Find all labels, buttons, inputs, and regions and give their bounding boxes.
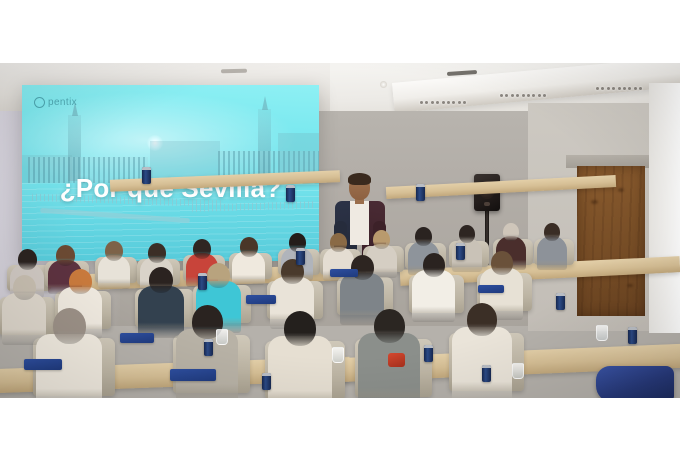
- audience-member-head: [53, 308, 86, 344]
- spotlight-icon: [505, 94, 508, 97]
- opentix-logo: pentix: [34, 97, 77, 108]
- spotlight-icon: [516, 94, 519, 97]
- screenshot-root: pentix ¿Por qué Sevilla?: [0, 0, 696, 464]
- blue-folder: [330, 269, 358, 277]
- presenter-shirt: [350, 201, 369, 245]
- navy-blazer-draped: [596, 366, 674, 398]
- drink-can: [482, 365, 491, 382]
- spotlight-icon: [639, 87, 642, 90]
- spotlight-icon: [532, 94, 535, 97]
- drink-can: [556, 293, 565, 310]
- spotlight-icon: [538, 94, 541, 97]
- spotlight-icon: [458, 101, 461, 104]
- can-top: [456, 243, 465, 246]
- can-top: [262, 373, 271, 376]
- drink-can: [424, 345, 433, 362]
- spotlight-cluster: [596, 85, 642, 92]
- spotlight-icon: [500, 94, 503, 97]
- spotlight-icon: [447, 101, 450, 104]
- audience-member-head: [207, 263, 230, 288]
- audience-member-torso: [452, 327, 512, 398]
- can-top: [296, 248, 305, 251]
- audience-member-head: [149, 267, 173, 293]
- water-glass: [512, 363, 524, 379]
- audience-member-head: [105, 241, 123, 261]
- audience-member-head: [330, 233, 347, 252]
- can-top: [628, 327, 637, 330]
- drink-can: [204, 339, 213, 356]
- audience-member-head: [467, 303, 497, 336]
- blue-folder: [170, 369, 216, 381]
- air-vent-icon: [221, 69, 247, 73]
- audience-member-head: [69, 269, 92, 294]
- audience-member-head: [374, 309, 405, 343]
- spotlight-icon: [431, 101, 434, 104]
- water-glass: [332, 347, 344, 363]
- audience-member-torso: [138, 286, 184, 338]
- audience-member-head: [459, 225, 475, 243]
- drink-can: [628, 327, 637, 344]
- spotlight-icon: [618, 87, 621, 90]
- spotlight-icon: [543, 94, 546, 97]
- can-top: [142, 167, 151, 170]
- audience-member-head: [18, 249, 37, 270]
- audience-member-head: [193, 239, 211, 259]
- drink-can: [416, 184, 425, 201]
- blue-folder: [478, 285, 504, 293]
- drink-can: [198, 273, 207, 290]
- spotlight-icon: [463, 101, 466, 104]
- spotlight-icon: [511, 94, 514, 97]
- spotlight-icon: [612, 87, 615, 90]
- audience-member-head: [284, 311, 316, 346]
- can-top: [204, 339, 213, 342]
- can-top: [198, 273, 207, 276]
- blue-folder: [120, 333, 154, 343]
- can-top: [416, 184, 425, 187]
- can-top: [556, 293, 565, 296]
- wood-door-panel: [577, 166, 645, 316]
- spotlight-cluster: [500, 92, 546, 99]
- blue-folder: [24, 359, 62, 370]
- audience-member-head: [373, 230, 390, 249]
- audience-member-torso: [537, 236, 567, 270]
- spotlight-icon: [527, 94, 530, 97]
- audience-member-head: [503, 223, 519, 241]
- audience-member-head: [544, 223, 560, 241]
- circle-o-logo-icon: [34, 97, 45, 108]
- drink-can: [456, 243, 465, 260]
- drink-can: [142, 167, 151, 184]
- spotlight-icon: [628, 87, 631, 90]
- audience-member-head: [240, 237, 258, 257]
- can-top: [482, 365, 491, 368]
- spotlight-icon: [452, 101, 455, 104]
- wall-white-column: [649, 83, 680, 333]
- drink-can: [296, 248, 305, 265]
- audience-member-head: [415, 227, 432, 246]
- spotlight-icon: [623, 87, 626, 90]
- audience-member-head: [423, 253, 445, 277]
- audience-member-head: [148, 243, 166, 263]
- spotlight-cluster: [420, 99, 466, 106]
- spotlight-icon: [522, 94, 525, 97]
- audience-member-head: [56, 245, 75, 266]
- ceiling-light-icon: [380, 81, 387, 88]
- opentix-logo-text: pentix: [48, 97, 77, 108]
- spotlight-icon: [442, 101, 445, 104]
- conference-photo: pentix ¿Por qué Sevilla?: [0, 63, 680, 398]
- drink-can: [286, 185, 295, 202]
- blue-folder: [246, 295, 276, 304]
- can-top: [424, 345, 433, 348]
- audience-member-torso: [412, 270, 455, 322]
- speaker-tweeter-icon: [484, 202, 490, 206]
- spotlight-icon: [634, 87, 637, 90]
- spotlight-icon: [425, 101, 428, 104]
- can-top: [286, 185, 295, 188]
- drink-can: [262, 373, 271, 390]
- spotlight-icon: [596, 87, 599, 90]
- audience-member-head: [13, 275, 36, 300]
- water-glass: [216, 329, 228, 345]
- presenter-hair: [348, 173, 371, 185]
- letterbox-right: [680, 0, 696, 464]
- spotlight-icon: [601, 87, 604, 90]
- red-bag: [388, 353, 405, 367]
- water-glass: [596, 325, 608, 341]
- audience-member-head: [491, 251, 513, 275]
- spotlight-icon: [607, 87, 610, 90]
- spotlight-icon: [420, 101, 423, 104]
- spotlight-icon: [436, 101, 439, 104]
